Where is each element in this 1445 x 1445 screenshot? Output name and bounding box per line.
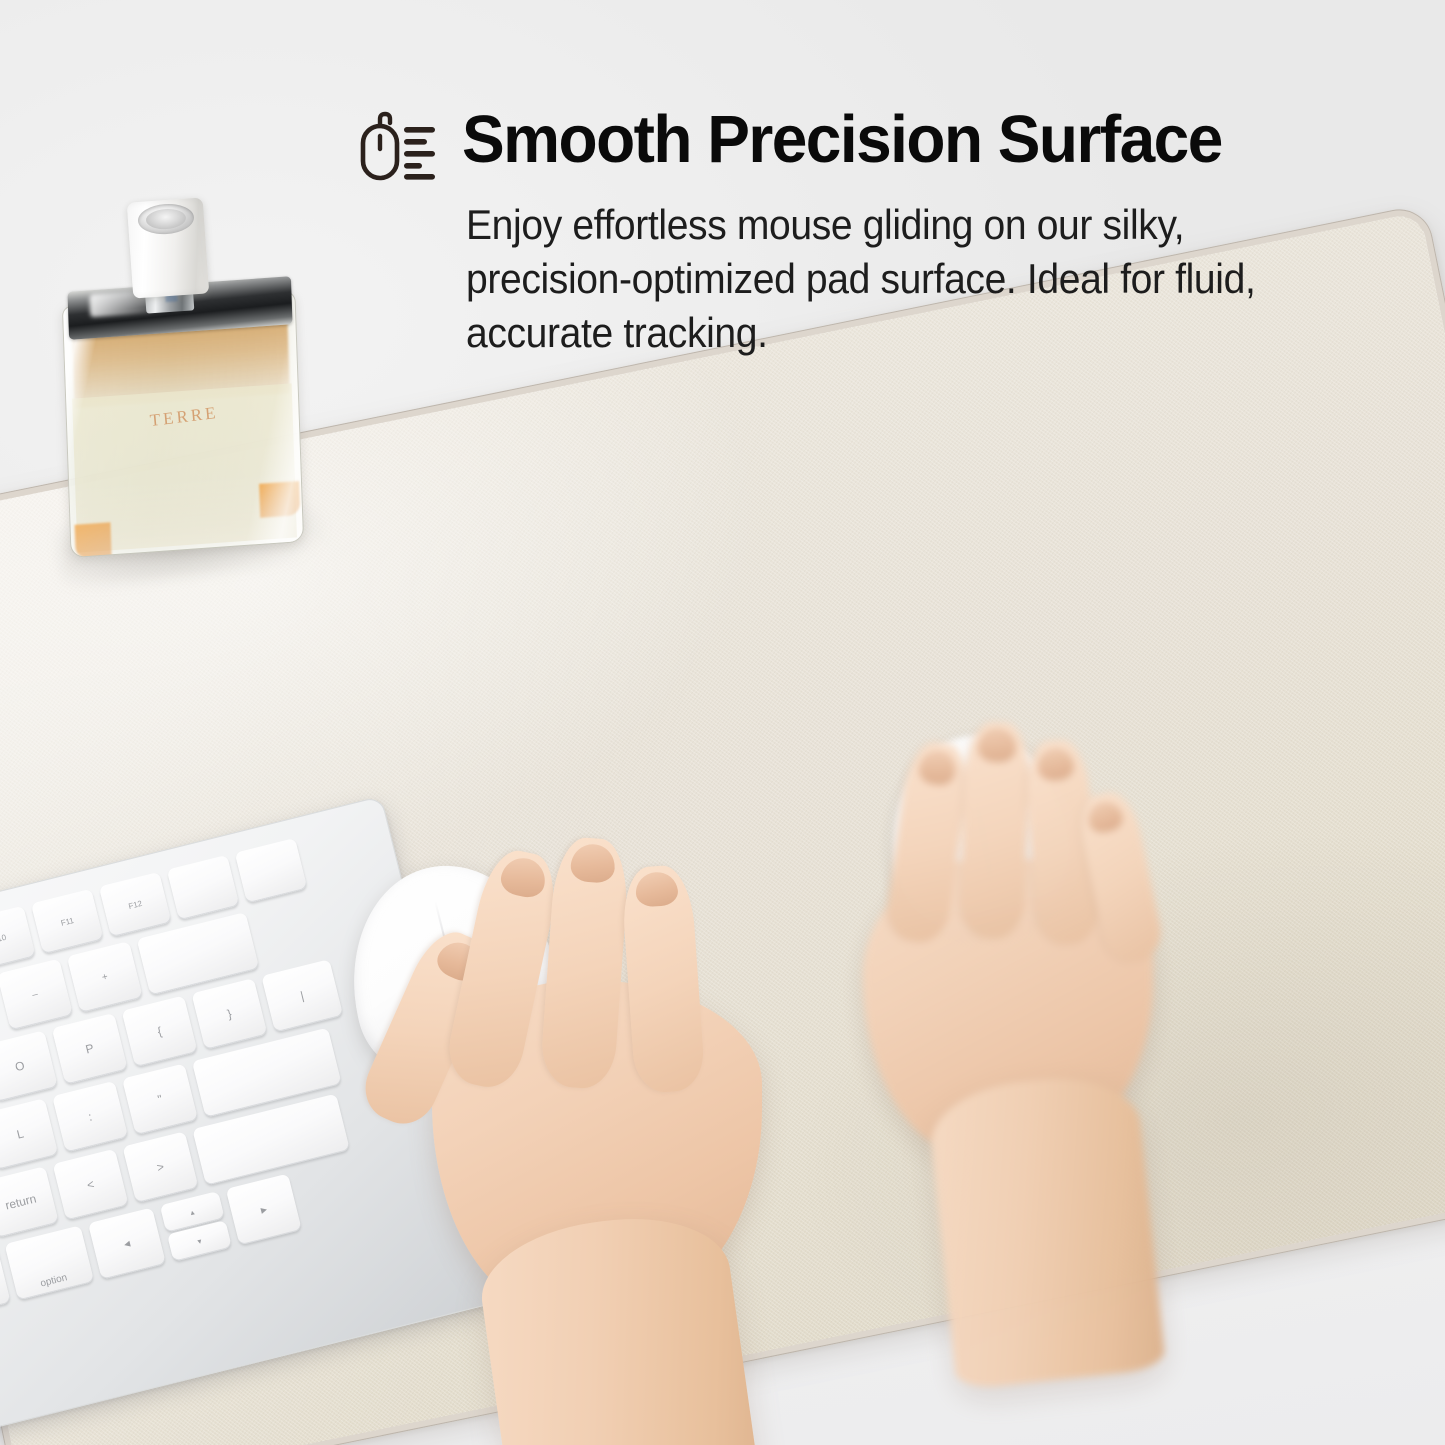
- key-period[interactable]: <: [53, 1149, 129, 1221]
- key-arrow-right[interactable]: ▸: [226, 1174, 302, 1246]
- key-quote[interactable]: ": [122, 1063, 198, 1135]
- product-feature-image: TERRE F10 F11 F12 – + O: [0, 0, 1445, 1445]
- page-title: Smooth Precision Surface: [462, 104, 1222, 176]
- perfume-cap-top: [137, 202, 195, 236]
- key-backslash[interactable]: |: [261, 959, 343, 1032]
- nail-index-right: [917, 748, 957, 787]
- nail-middle-left: [498, 854, 549, 900]
- key-equals[interactable]: +: [67, 941, 143, 1013]
- key-semicolon[interactable]: :: [52, 1081, 128, 1153]
- mouse-precision-icon: [358, 108, 440, 186]
- key-minus[interactable]: –: [0, 959, 73, 1031]
- key-eject[interactable]: [235, 838, 308, 903]
- key-f11[interactable]: F11: [31, 889, 104, 954]
- key-comma[interactable]: return: [0, 1166, 59, 1238]
- perfume-cap-emblem: [145, 208, 186, 231]
- finger-pinky-left: [620, 864, 706, 1094]
- hand-right-blurred: [845, 700, 1225, 1260]
- nail-pinky-right: [1085, 799, 1124, 835]
- nail-ring-left: [570, 843, 617, 884]
- key-f10[interactable]: F10: [0, 906, 36, 971]
- key-option[interactable]: option: [4, 1225, 94, 1300]
- nail-ring-right: [1036, 747, 1074, 781]
- forearm-right: [926, 1070, 1166, 1390]
- key-o[interactable]: O: [0, 1030, 58, 1102]
- hand-left: [380, 840, 840, 1445]
- perfume-bottle: TERRE: [52, 198, 322, 568]
- key-bracket-left[interactable]: {: [122, 995, 198, 1067]
- key-l[interactable]: L: [0, 1098, 58, 1170]
- key-arrow-left[interactable]: ◂: [88, 1207, 166, 1279]
- nail-pinky-left: [635, 871, 679, 908]
- feature-description: Enjoy effortless mouse gliding on our si…: [466, 198, 1303, 360]
- key-p[interactable]: P: [52, 1013, 128, 1085]
- perfume-cap: [127, 197, 210, 298]
- key-f12[interactable]: F12: [99, 872, 172, 937]
- nail-middle-right: [977, 727, 1016, 762]
- key-bracket-right[interactable]: }: [191, 978, 267, 1050]
- key-brightness[interactable]: [167, 855, 240, 920]
- headline-row: Smooth Precision Surface: [358, 104, 1258, 186]
- key-slash[interactable]: >: [122, 1131, 198, 1203]
- finger-middle-right: [959, 721, 1030, 939]
